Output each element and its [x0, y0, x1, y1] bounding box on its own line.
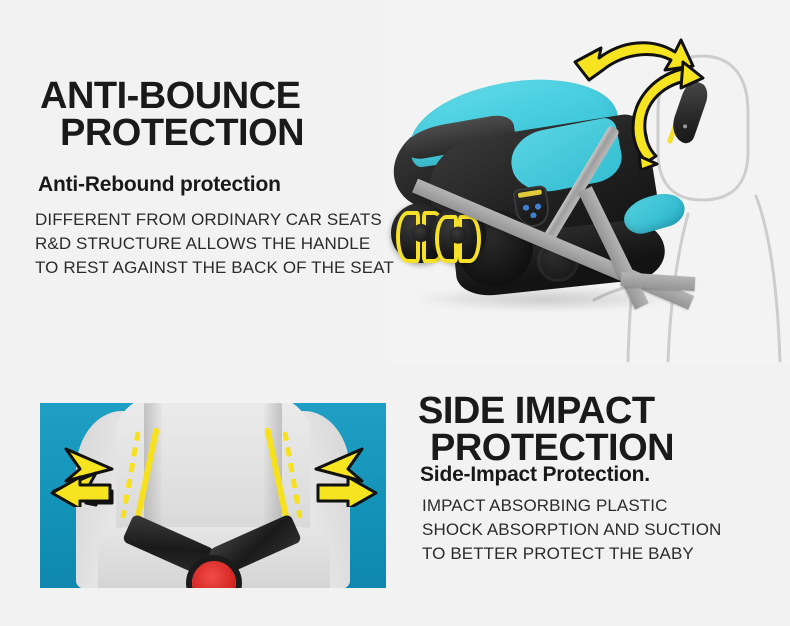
side-impact-subheading-wrap: Side-Impact Protection. [420, 463, 650, 487]
side-impact-headline: SIDE IMPACT PROTECTION [418, 393, 674, 467]
anti-bounce-headline: ANTI-BOUNCE PROTECTION [40, 78, 304, 152]
side-impact-subheading: Side-Impact Protection. [420, 463, 650, 487]
side-impact-body-line-3: TO BETTER PROTECT THE BABY [422, 542, 721, 566]
side-impact-body-text: IMPACT ABSORBING PLASTIC SHOCK ABSORPTIO… [422, 494, 721, 566]
wheel-hub [412, 224, 430, 242]
side-impact-body-line-1: IMPACT ABSORBING PLASTIC [422, 494, 721, 518]
anti-bounce-heading-line1: ANTI-BOUNCE [40, 75, 300, 117]
anti-bounce-heading: ANTI-BOUNCE PROTECTION [40, 78, 304, 152]
anti-rebound-subheading: Anti-Rebound protection [38, 173, 281, 197]
anti-bounce-body-line-3: TO REST AGAINST THE BACK OF THE SEAT [35, 256, 394, 280]
wheel-hub [450, 227, 467, 244]
side-impact-heading-line2: PROTECTION [418, 430, 674, 467]
anti-bounce-body-line-1: DIFFERENT FROM ORDINARY CAR SEATS [35, 208, 394, 232]
anti-bounce-body-line-2: R&D STRUCTURE ALLOWS THE HANDLE [35, 232, 394, 256]
side-impact-heading: SIDE IMPACT PROTECTION [418, 393, 674, 467]
anti-rebound-subheading-wrap: Anti-Rebound protection [38, 173, 281, 197]
anti-bounce-product-photo [385, 0, 790, 362]
product-feature-panel: ANTI-BOUNCE PROTECTION Anti-Rebound prot… [0, 0, 790, 626]
side-impact-product-photo [40, 403, 386, 588]
left-impact-arrow-icon [50, 447, 126, 507]
anti-bounce-body-text: DIFFERENT FROM ORDINARY CAR SEATS R&D ST… [35, 208, 394, 280]
side-impact-body-line-2: SHOCK ABSORPTION AND SUCTION [422, 518, 721, 542]
side-impact-heading-line1: SIDE IMPACT [418, 390, 655, 432]
anti-bounce-heading-line2: PROTECTION [40, 115, 304, 152]
right-impact-arrow-icon [302, 447, 378, 507]
rotation-arc-arrow-icon [623, 56, 709, 170]
